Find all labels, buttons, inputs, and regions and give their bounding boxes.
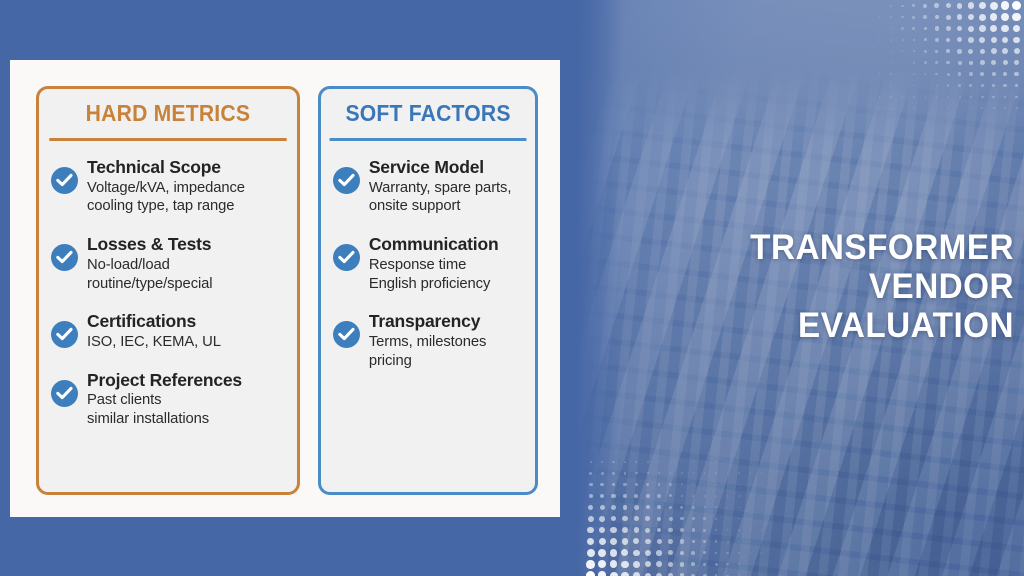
list-item-description: Warranty, spare parts,onsite support — [369, 179, 525, 217]
list-item-text: Losses & TestsNo-load/loadroutine/type/s… — [87, 234, 287, 293]
slide-root: TRANSFORMER VENDOR EVALUATION HARD METRI… — [0, 0, 1024, 576]
check-icon — [56, 173, 73, 188]
list-item: CertificationsISO, IEC, KEMA, UL — [51, 311, 287, 351]
list-item-description-line: Warranty, spare parts, — [369, 179, 525, 198]
hero-title-line-1: TRANSFORMER VENDOR — [599, 228, 1014, 306]
list-item: Technical ScopeVoltage/kVA, impedancecoo… — [51, 157, 287, 216]
list-item-description-line: similar installations — [87, 410, 287, 429]
card-heading-soft-factors: SOFT FACTORS — [329, 89, 526, 141]
card-hard-metrics: HARD METRICSTechnical ScopeVoltage/kVA, … — [36, 86, 300, 495]
list-item: Service ModelWarranty, spare parts,onsit… — [333, 157, 525, 216]
list-item-description-line: Past clients — [87, 391, 287, 410]
card-body-soft-factors: Service ModelWarranty, spare parts,onsit… — [321, 141, 535, 492]
list-item-description-line: No-load/load — [87, 256, 287, 275]
list-item-description-line: Voltage/kVA, impedance — [87, 179, 287, 198]
list-item-description-line: Terms, milestones — [369, 333, 525, 352]
list-item-title: Certifications — [87, 311, 287, 332]
list-item-description: Response timeEnglish proficiency — [369, 256, 525, 294]
list-item: Losses & TestsNo-load/loadroutine/type/s… — [51, 234, 287, 293]
list-item-description-line: routine/type/special — [87, 275, 287, 294]
check-circle-icon — [51, 380, 78, 407]
list-item-title: Project References — [87, 370, 287, 391]
list-item-text: CommunicationResponse timeEnglish profic… — [369, 234, 525, 293]
list-item-description-line: cooling type, tap range — [87, 197, 287, 216]
check-icon — [56, 327, 73, 342]
list-item-description: No-load/loadroutine/type/special — [87, 256, 287, 294]
check-icon — [338, 250, 355, 265]
list-item-title: Communication — [369, 234, 525, 255]
hero-title: TRANSFORMER VENDOR EVALUATION — [577, 228, 1014, 346]
list-item-description-line: Response time — [369, 256, 525, 275]
card-body-hard-metrics: Technical ScopeVoltage/kVA, impedancecoo… — [39, 141, 297, 492]
list-item-description: Voltage/kVA, impedancecooling type, tap … — [87, 179, 287, 217]
list-item-text: Technical ScopeVoltage/kVA, impedancecoo… — [87, 157, 287, 216]
list-item-text: Project ReferencesPast clientssimilar in… — [87, 370, 287, 429]
check-circle-icon — [333, 167, 360, 194]
list-item-description-line: onsite support — [369, 197, 525, 216]
list-item: TransparencyTerms, milestonespricing — [333, 311, 525, 370]
hero-title-line-2: EVALUATION — [599, 306, 1014, 345]
card-heading-hard-metrics: HARD METRICS — [49, 89, 286, 141]
check-icon — [56, 250, 73, 265]
list-item-text: TransparencyTerms, milestonespricing — [369, 311, 525, 370]
list-item-description: ISO, IEC, KEMA, UL — [87, 333, 287, 352]
list-item-text: Service ModelWarranty, spare parts,onsit… — [369, 157, 525, 216]
check-circle-icon — [51, 321, 78, 348]
list-item: Project ReferencesPast clientssimilar in… — [51, 370, 287, 429]
check-circle-icon — [333, 321, 360, 348]
list-item-title: Losses & Tests — [87, 234, 287, 255]
list-item-description: Terms, milestonespricing — [369, 333, 525, 371]
check-circle-icon — [51, 167, 78, 194]
list-item-text: CertificationsISO, IEC, KEMA, UL — [87, 311, 287, 351]
hero-photo-panel: TRANSFORMER VENDOR EVALUATION — [577, 0, 1024, 576]
card-container: HARD METRICSTechnical ScopeVoltage/kVA, … — [10, 60, 560, 517]
check-circle-icon — [51, 244, 78, 271]
list-item-description-line: pricing — [369, 352, 525, 371]
list-item-title: Technical Scope — [87, 157, 287, 178]
check-icon — [338, 327, 355, 342]
check-circle-icon — [333, 244, 360, 271]
list-item-description-line: English proficiency — [369, 275, 525, 294]
list-item-title: Service Model — [369, 157, 525, 178]
check-icon — [56, 386, 73, 401]
list-item-description-line: ISO, IEC, KEMA, UL — [87, 333, 287, 352]
check-icon — [338, 173, 355, 188]
list-item: CommunicationResponse timeEnglish profic… — [333, 234, 525, 293]
list-item-description: Past clientssimilar installations — [87, 391, 287, 429]
list-item-title: Transparency — [369, 311, 525, 332]
content-panel: HARD METRICSTechnical ScopeVoltage/kVA, … — [10, 60, 560, 517]
card-soft-factors: SOFT FACTORSService ModelWarranty, spare… — [318, 86, 538, 495]
